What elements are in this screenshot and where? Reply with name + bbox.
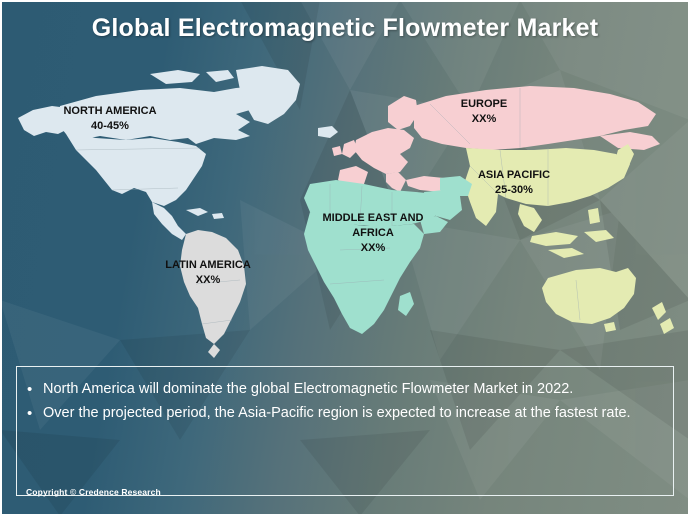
region-name-middle-east-africa-line2: AFRICA	[312, 226, 434, 241]
region-value-europe: XX%	[432, 112, 536, 127]
region-label-north-america: NORTH AMERICA 40-45%	[50, 104, 170, 134]
region-name-middle-east-africa-line1: MIDDLE EAST AND	[312, 211, 434, 226]
insights-list: • North America will dominate the global…	[27, 378, 665, 426]
region-label-middle-east-africa: MIDDLE EAST AND AFRICA XX%	[312, 211, 434, 256]
region-value-middle-east-africa: XX%	[312, 241, 434, 256]
world-map	[0, 44, 690, 364]
region-value-asia-pacific: 25-30%	[462, 183, 566, 198]
bullet-marker-icon: •	[27, 378, 43, 401]
page-title: Global Electromagnetic Flowmeter Market	[0, 14, 690, 43]
infographic-slide: Global Electromagnetic Flowmeter Market	[0, 0, 690, 516]
region-label-europe: EUROPE XX%	[432, 97, 536, 127]
region-name-latin-america: LATIN AMERICA	[148, 258, 268, 273]
map-region-latin-america	[180, 230, 246, 358]
insights-box: • North America will dominate the global…	[16, 366, 674, 496]
region-name-europe: EUROPE	[432, 97, 536, 112]
map-region-north-america	[18, 66, 338, 240]
copyright-notice: Copyright © Credence Research	[26, 487, 161, 497]
region-value-north-america: 40-45%	[50, 119, 170, 134]
region-label-asia-pacific: ASIA PACIFIC 25-30%	[462, 168, 566, 198]
region-value-latin-america: XX%	[148, 273, 268, 288]
insight-text-2: Over the projected period, the Asia-Paci…	[43, 402, 665, 425]
region-name-asia-pacific: ASIA PACIFIC	[462, 168, 566, 183]
region-label-latin-america: LATIN AMERICA XX%	[148, 258, 268, 288]
bullet-marker-icon: •	[27, 402, 43, 425]
insight-text-1: North America will dominate the global E…	[43, 378, 665, 401]
list-item: • Over the projected period, the Asia-Pa…	[27, 402, 665, 425]
region-name-north-america: NORTH AMERICA	[50, 104, 170, 119]
list-item: • North America will dominate the global…	[27, 378, 665, 401]
